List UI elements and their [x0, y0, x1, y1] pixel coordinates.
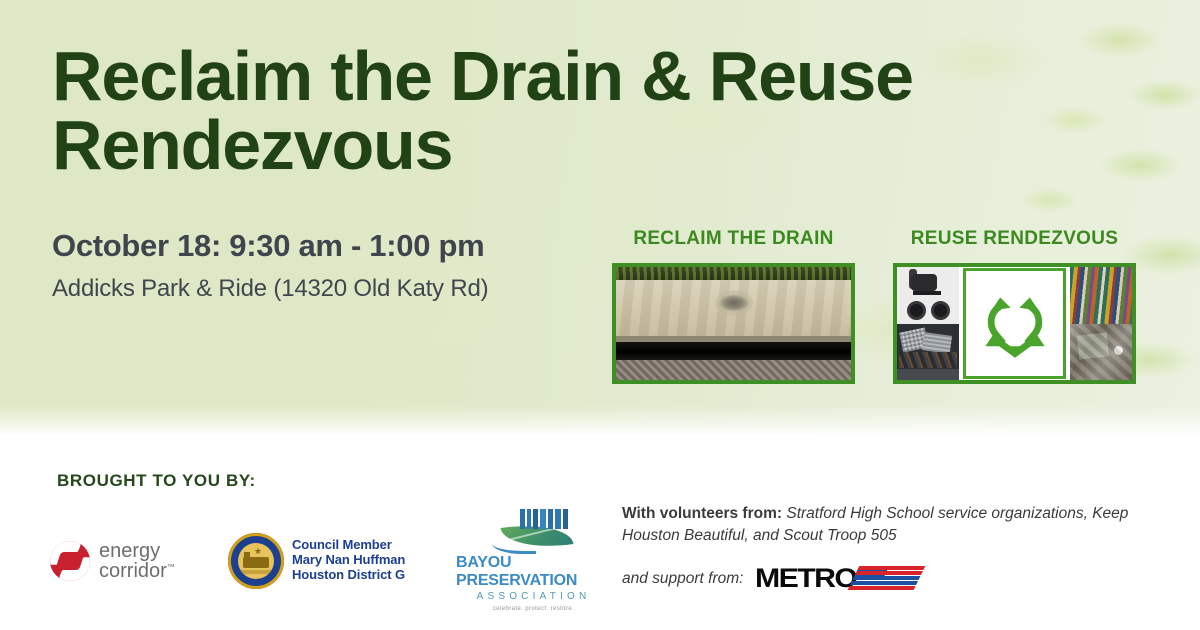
wheelchair-photo [897, 267, 959, 324]
support-label: and support from: [622, 570, 743, 588]
logo-metro: METRO [755, 563, 919, 594]
bayou-line2: ASSOCIATION [477, 591, 591, 602]
sponsor-footer: BROUGHT TO YOU BY: energy corridor™ ★ [0, 435, 1200, 630]
energy-corridor-line1: energy [99, 541, 175, 561]
photo-cards: RECLAIM THE DRAIN REUSE RENDEZVOUS [612, 228, 1136, 384]
volunteers-label: With volunteers from: [622, 505, 782, 522]
bayou-line1: BAYOU PRESERVATION [456, 554, 611, 590]
sponsor-logos: energy corridor™ ★ Council Member Mary N… [50, 509, 611, 612]
reuse-collage-photo [893, 263, 1136, 384]
bayou-leaf-skyline-icon [490, 509, 578, 551]
logo-council-member: ★ Council Member Mary Nan Huffman Housto… [228, 533, 428, 589]
drain-marker-icon [719, 295, 749, 312]
council-line2: Mary Nan Huffman [292, 553, 405, 568]
trademark-symbol: ™ [167, 562, 175, 571]
card-title: REUSE RENDEZVOUS [911, 228, 1119, 250]
event-flyer: Reclaim the Drain & Reuse Rendezvous Oct… [0, 0, 1200, 630]
bagged-items-photo [1070, 324, 1132, 381]
bayou-tagline: celebrate. protect. restore. [493, 606, 574, 612]
council-line3: Houston District G [292, 568, 405, 583]
recycle-heart-icon [978, 287, 1052, 361]
event-venue: Addicks Park & Ride (14320 Old Katy Rd) [52, 275, 488, 303]
volunteers-credit: With volunteers from: Stratford High Sch… [622, 503, 1182, 548]
background-fade [0, 405, 1200, 435]
recycle-heart-panel [959, 267, 1070, 380]
grass-strip [616, 267, 851, 280]
energy-corridor-wordmark: energy corridor™ [99, 541, 175, 581]
collage-right-column [1070, 267, 1132, 380]
pavement-apron [616, 360, 851, 380]
energy-corridor-line2: corridor™ [99, 561, 175, 581]
logo-bayou-preservation: BAYOU PRESERVATION ASSOCIATION celebrate… [456, 509, 611, 612]
electronics-photo [897, 324, 959, 381]
council-line1: Council Member [292, 538, 405, 553]
energy-corridor-swoosh-icon [50, 541, 90, 581]
card-title: RECLAIM THE DRAIN [633, 228, 833, 250]
books-photo [1070, 267, 1132, 324]
metro-stripes-icon [847, 566, 926, 592]
page-title: Reclaim the Drain & Reuse Rendezvous [52, 42, 1042, 179]
drain-opening [616, 342, 851, 360]
metro-wordmark: METRO [755, 563, 856, 594]
storm-drain-photo [612, 263, 855, 384]
support-credit: and support from: METRO [622, 563, 919, 594]
event-datetime: October 18: 9:30 am - 1:00 pm [52, 228, 484, 264]
collage-left-column [897, 267, 959, 380]
card-reclaim-the-drain: RECLAIM THE DRAIN [612, 228, 855, 384]
city-of-houston-seal-icon: ★ [228, 533, 284, 589]
card-reuse-rendezvous: REUSE RENDEZVOUS [893, 228, 1136, 384]
brought-to-you-by-label: BROUGHT TO YOU BY: [57, 471, 256, 491]
logo-energy-corridor: energy corridor™ [50, 541, 200, 581]
council-member-wordmark: Council Member Mary Nan Huffman Houston … [292, 538, 405, 582]
